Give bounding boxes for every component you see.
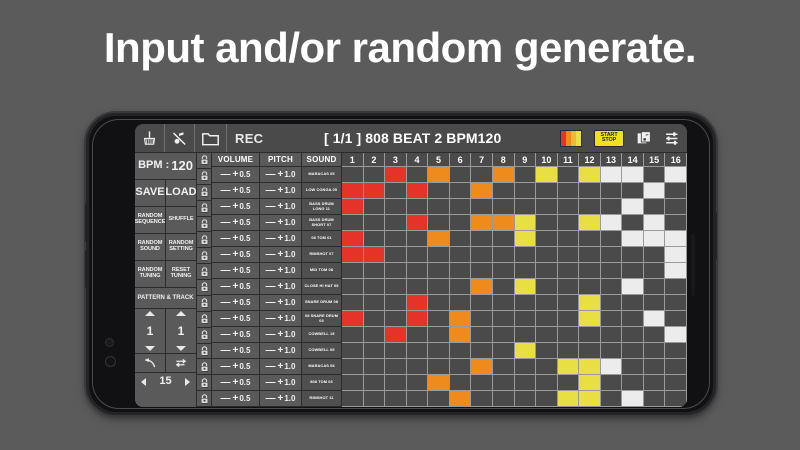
pitch-increase-icon[interactable]: + xyxy=(278,329,284,340)
pitch-decrease-icon[interactable]: — xyxy=(266,185,276,196)
volume-decrease-icon[interactable]: — xyxy=(221,297,231,308)
step-cell[interactable] xyxy=(601,215,623,231)
step-cell[interactable] xyxy=(579,343,601,359)
step-cell[interactable] xyxy=(364,231,386,247)
step-cell[interactable] xyxy=(644,343,666,359)
step-cell[interactable] xyxy=(644,263,666,279)
step-cell[interactable] xyxy=(364,343,386,359)
pitch-control[interactable]: —+1.0 xyxy=(260,343,302,359)
track-stepper[interactable]: 1 xyxy=(166,309,196,353)
step-cell[interactable] xyxy=(622,263,644,279)
step-cell[interactable] xyxy=(342,327,364,343)
pitch-control[interactable]: —+1.0 xyxy=(260,295,302,311)
step-cell[interactable] xyxy=(364,263,386,279)
pattern-track-label[interactable]: PATTERN & TRACK xyxy=(135,288,196,308)
step-cell[interactable] xyxy=(428,375,450,391)
step-cell[interactable] xyxy=(450,231,472,247)
step-cell[interactable] xyxy=(407,167,429,183)
step-cell[interactable] xyxy=(622,391,644,407)
step-cell[interactable] xyxy=(558,231,580,247)
step-cell[interactable] xyxy=(579,327,601,343)
step-cell[interactable] xyxy=(536,263,558,279)
step-cell[interactable] xyxy=(493,359,515,375)
step-cell[interactable] xyxy=(342,167,364,183)
pitch-decrease-icon[interactable]: — xyxy=(266,313,276,324)
step-cell[interactable] xyxy=(428,279,450,295)
step-cell[interactable] xyxy=(493,263,515,279)
lock-row-button[interactable] xyxy=(197,312,211,328)
volume-control[interactable]: —+0.5 xyxy=(212,231,260,247)
volume-decrease-icon[interactable]: — xyxy=(221,169,231,180)
lock-row-button[interactable] xyxy=(197,280,211,296)
step-cell[interactable] xyxy=(622,359,644,375)
step-cell[interactable] xyxy=(536,375,558,391)
pitch-increase-icon[interactable]: + xyxy=(278,297,284,308)
step-cell[interactable] xyxy=(536,183,558,199)
step-cell[interactable] xyxy=(385,183,407,199)
step-cell[interactable] xyxy=(364,279,386,295)
volume-increase-icon[interactable]: + xyxy=(233,297,239,308)
step-cell[interactable] xyxy=(342,263,364,279)
pitch-control[interactable]: —+1.0 xyxy=(260,375,302,391)
step-cell[interactable] xyxy=(407,311,429,327)
step-cell[interactable] xyxy=(493,311,515,327)
step-cell[interactable] xyxy=(364,183,386,199)
step-cell[interactable] xyxy=(558,359,580,375)
step-cell[interactable] xyxy=(471,295,493,311)
volume-control[interactable]: —+0.5 xyxy=(212,359,260,375)
step-cell[interactable] xyxy=(471,375,493,391)
volume-increase-icon[interactable]: + xyxy=(233,233,239,244)
step-cell[interactable] xyxy=(644,359,666,375)
step-cell[interactable] xyxy=(601,183,623,199)
lock-row-button[interactable] xyxy=(197,201,211,217)
copy-pattern-button[interactable] xyxy=(630,124,658,152)
step-cell[interactable] xyxy=(364,375,386,391)
step-cell[interactable] xyxy=(471,231,493,247)
step-cell[interactable] xyxy=(601,343,623,359)
pitch-increase-icon[interactable]: + xyxy=(278,233,284,244)
volume-decrease-icon[interactable]: — xyxy=(221,377,231,388)
pitch-decrease-icon[interactable]: — xyxy=(266,233,276,244)
step-cell[interactable] xyxy=(428,263,450,279)
step-cell[interactable] xyxy=(536,359,558,375)
lock-row-button[interactable] xyxy=(197,359,211,375)
step-cell[interactable] xyxy=(579,247,601,263)
step-cell[interactable] xyxy=(364,215,386,231)
step-cell[interactable] xyxy=(536,215,558,231)
step-cell[interactable] xyxy=(644,391,666,407)
pitch-control[interactable]: —+1.0 xyxy=(260,391,302,407)
step-cell[interactable] xyxy=(558,327,580,343)
volume-down-button[interactable] xyxy=(85,250,89,288)
step-cell[interactable] xyxy=(407,375,429,391)
volume-control[interactable]: —+0.5 xyxy=(212,375,260,391)
step-cell[interactable] xyxy=(665,231,687,247)
sound-name-cell[interactable]: RIMSHOT 11 xyxy=(302,391,342,407)
step-cell[interactable] xyxy=(364,295,386,311)
pitch-increase-icon[interactable]: + xyxy=(278,249,284,260)
pitch-control[interactable]: —+1.0 xyxy=(260,279,302,295)
step-cell[interactable] xyxy=(579,279,601,295)
steps-next-icon[interactable] xyxy=(185,378,190,386)
step-cell[interactable] xyxy=(342,231,364,247)
step-cell[interactable] xyxy=(644,167,666,183)
step-cell[interactable] xyxy=(579,167,601,183)
volume-control[interactable]: —+0.5 xyxy=(212,247,260,263)
step-cell[interactable] xyxy=(428,247,450,263)
volume-increase-icon[interactable]: + xyxy=(233,393,239,404)
step-cell[interactable] xyxy=(428,231,450,247)
volume-decrease-icon[interactable]: — xyxy=(221,393,231,404)
step-cell[interactable] xyxy=(622,231,644,247)
pitch-decrease-icon[interactable]: — xyxy=(266,249,276,260)
pitch-increase-icon[interactable]: + xyxy=(278,393,284,404)
sound-name-cell[interactable]: MARACAS 08 xyxy=(302,359,342,375)
step-cell[interactable] xyxy=(579,375,601,391)
step-cell[interactable] xyxy=(407,279,429,295)
color-swatch-button[interactable] xyxy=(554,124,588,152)
step-cell[interactable] xyxy=(407,231,429,247)
pitch-decrease-icon[interactable]: — xyxy=(266,201,276,212)
step-cell[interactable] xyxy=(536,167,558,183)
step-cell[interactable] xyxy=(428,391,450,407)
lock-row-button[interactable] xyxy=(197,328,211,344)
save-button[interactable]: SAVE xyxy=(135,180,166,206)
step-cell[interactable] xyxy=(385,359,407,375)
pitch-increase-icon[interactable]: + xyxy=(278,377,284,388)
step-cell[interactable] xyxy=(407,295,429,311)
step-cell[interactable] xyxy=(342,199,364,215)
step-cell[interactable] xyxy=(428,183,450,199)
volume-decrease-icon[interactable]: — xyxy=(221,233,231,244)
step-cell[interactable] xyxy=(665,311,687,327)
pitch-control[interactable]: —+1.0 xyxy=(260,263,302,279)
pattern-increment-icon[interactable] xyxy=(145,311,155,316)
step-cell[interactable] xyxy=(493,215,515,231)
volume-control[interactable]: —+0.5 xyxy=(212,215,260,231)
step-cell[interactable] xyxy=(558,183,580,199)
step-cell[interactable] xyxy=(428,167,450,183)
step-cell[interactable] xyxy=(601,167,623,183)
step-cell[interactable] xyxy=(493,343,515,359)
step-cell[interactable] xyxy=(579,359,601,375)
pitch-control[interactable]: —+1.0 xyxy=(260,231,302,247)
step-cell[interactable] xyxy=(644,231,666,247)
step-cell[interactable] xyxy=(622,295,644,311)
lock-all-button[interactable] xyxy=(197,153,211,169)
step-cell[interactable] xyxy=(579,295,601,311)
volume-control[interactable]: —+0.5 xyxy=(212,199,260,215)
step-cell[interactable] xyxy=(515,391,537,407)
step-cell[interactable] xyxy=(601,311,623,327)
pitch-decrease-icon[interactable]: — xyxy=(266,377,276,388)
sound-name-cell[interactable]: BASS DRUM SHORT 07 xyxy=(302,215,342,231)
step-cell[interactable] xyxy=(665,279,687,295)
step-cell[interactable] xyxy=(622,247,644,263)
step-cell[interactable] xyxy=(471,199,493,215)
pitch-control[interactable]: —+1.0 xyxy=(260,183,302,199)
step-cell[interactable] xyxy=(342,183,364,199)
pitch-increase-icon[interactable]: + xyxy=(278,217,284,228)
volume-increase-icon[interactable]: + xyxy=(233,201,239,212)
volume-control[interactable]: —+0.5 xyxy=(212,279,260,295)
step-cell[interactable] xyxy=(558,199,580,215)
pattern-stepper[interactable]: 1 xyxy=(135,309,166,353)
random-sound-button[interactable]: RANDOM SOUND xyxy=(135,234,166,260)
track-decrement-icon[interactable] xyxy=(176,346,186,351)
start-stop-button[interactable]: START STOP xyxy=(588,124,630,152)
volume-control[interactable]: —+0.5 xyxy=(212,391,260,407)
volume-decrease-icon[interactable]: — xyxy=(221,313,231,324)
step-cell[interactable] xyxy=(665,359,687,375)
volume-decrease-icon[interactable]: — xyxy=(221,345,231,356)
volume-increase-icon[interactable]: + xyxy=(233,361,239,372)
step-cell[interactable] xyxy=(471,311,493,327)
step-cell[interactable] xyxy=(622,183,644,199)
step-cell[interactable] xyxy=(665,183,687,199)
step-cell[interactable] xyxy=(450,183,472,199)
lock-row-button[interactable] xyxy=(197,296,211,312)
lock-row-button[interactable] xyxy=(197,232,211,248)
lock-row-button[interactable] xyxy=(197,185,211,201)
pitch-control[interactable]: —+1.0 xyxy=(260,199,302,215)
step-cell[interactable] xyxy=(493,295,515,311)
volume-up-button[interactable] xyxy=(85,204,89,242)
step-cell[interactable] xyxy=(515,359,537,375)
step-cell[interactable] xyxy=(450,199,472,215)
step-cell[interactable] xyxy=(558,279,580,295)
power-button[interactable] xyxy=(713,212,717,260)
lock-row-button[interactable] xyxy=(197,344,211,360)
step-cell[interactable] xyxy=(493,167,515,183)
step-cell[interactable] xyxy=(407,247,429,263)
sound-name-cell[interactable]: 808 TOM 03 xyxy=(302,375,342,391)
step-cell[interactable] xyxy=(601,295,623,311)
step-cell[interactable] xyxy=(407,391,429,407)
step-cell[interactable] xyxy=(515,183,537,199)
pitch-control[interactable]: —+1.0 xyxy=(260,247,302,263)
step-cell[interactable] xyxy=(665,247,687,263)
step-cell[interactable] xyxy=(493,327,515,343)
step-cell[interactable] xyxy=(579,311,601,327)
step-cell[interactable] xyxy=(601,375,623,391)
step-cell[interactable] xyxy=(407,359,429,375)
step-cell[interactable] xyxy=(601,327,623,343)
step-cell[interactable] xyxy=(428,295,450,311)
steps-prev-icon[interactable] xyxy=(141,378,146,386)
step-cell[interactable] xyxy=(601,247,623,263)
settings-button[interactable] xyxy=(658,124,687,152)
step-cell[interactable] xyxy=(644,311,666,327)
step-cell[interactable] xyxy=(622,327,644,343)
step-cell[interactable] xyxy=(601,279,623,295)
step-cell[interactable] xyxy=(364,327,386,343)
sound-name-cell[interactable]: MARACAS 05 xyxy=(302,167,342,183)
pitch-decrease-icon[interactable]: — xyxy=(266,329,276,340)
volume-increase-icon[interactable]: + xyxy=(233,345,239,356)
pitch-increase-icon[interactable]: + xyxy=(278,361,284,372)
step-cell[interactable] xyxy=(407,263,429,279)
step-cell[interactable] xyxy=(428,343,450,359)
step-cell[interactable] xyxy=(407,215,429,231)
step-cell[interactable] xyxy=(622,167,644,183)
step-cell[interactable] xyxy=(515,375,537,391)
volume-decrease-icon[interactable]: — xyxy=(221,249,231,260)
rec-button[interactable]: REC xyxy=(227,124,271,152)
volume-decrease-icon[interactable]: — xyxy=(221,361,231,372)
lock-row-button[interactable] xyxy=(197,248,211,264)
step-cell[interactable] xyxy=(493,199,515,215)
step-cell[interactable] xyxy=(471,263,493,279)
step-cell[interactable] xyxy=(644,375,666,391)
step-cell[interactable] xyxy=(536,311,558,327)
pitch-control[interactable]: —+1.0 xyxy=(260,311,302,327)
step-cell[interactable] xyxy=(385,311,407,327)
volume-control[interactable]: —+0.5 xyxy=(212,263,260,279)
step-cell[interactable] xyxy=(622,199,644,215)
step-cell[interactable] xyxy=(471,359,493,375)
volume-control[interactable]: —+0.5 xyxy=(212,343,260,359)
step-cell[interactable] xyxy=(471,391,493,407)
step-cell[interactable] xyxy=(407,199,429,215)
track-increment-icon[interactable] xyxy=(176,311,186,316)
step-cell[interactable] xyxy=(622,375,644,391)
step-cell[interactable] xyxy=(515,279,537,295)
step-cell[interactable] xyxy=(342,375,364,391)
step-cell[interactable] xyxy=(364,359,386,375)
step-cell[interactable] xyxy=(665,295,687,311)
step-cell[interactable] xyxy=(471,343,493,359)
step-cell[interactable] xyxy=(558,215,580,231)
step-cell[interactable] xyxy=(515,167,537,183)
step-cell[interactable] xyxy=(385,199,407,215)
step-cell[interactable] xyxy=(450,391,472,407)
step-cell[interactable] xyxy=(450,375,472,391)
lock-row-button[interactable] xyxy=(197,217,211,233)
step-cell[interactable] xyxy=(471,183,493,199)
step-cell[interactable] xyxy=(515,199,537,215)
step-cell[interactable] xyxy=(364,167,386,183)
random-sequence-button[interactable]: RANDOM SEQUENCE xyxy=(135,207,166,233)
step-cell[interactable] xyxy=(579,199,601,215)
step-cell[interactable] xyxy=(644,295,666,311)
step-cell[interactable] xyxy=(536,199,558,215)
step-cell[interactable] xyxy=(493,391,515,407)
pitch-decrease-icon[interactable]: — xyxy=(266,265,276,276)
pitch-increase-icon[interactable]: + xyxy=(278,169,284,180)
step-cell[interactable] xyxy=(644,279,666,295)
step-cell[interactable] xyxy=(471,167,493,183)
pattern-decrement-icon[interactable] xyxy=(145,346,155,351)
pitch-increase-icon[interactable]: + xyxy=(278,201,284,212)
volume-control[interactable]: —+0.5 xyxy=(212,295,260,311)
step-cell[interactable] xyxy=(558,167,580,183)
volume-increase-icon[interactable]: + xyxy=(233,265,239,276)
step-cell[interactable] xyxy=(601,359,623,375)
step-cell[interactable] xyxy=(665,327,687,343)
step-cell[interactable] xyxy=(385,263,407,279)
step-cell[interactable] xyxy=(515,215,537,231)
step-cell[interactable] xyxy=(385,295,407,311)
step-cell[interactable] xyxy=(665,375,687,391)
step-cell[interactable] xyxy=(536,247,558,263)
step-cell[interactable] xyxy=(342,343,364,359)
step-cell[interactable] xyxy=(536,391,558,407)
step-cell[interactable] xyxy=(450,327,472,343)
shuffle-button[interactable]: SHUFFLE xyxy=(166,207,196,233)
step-cell[interactable] xyxy=(471,279,493,295)
step-cell[interactable] xyxy=(515,231,537,247)
step-cell[interactable] xyxy=(536,231,558,247)
step-cell[interactable] xyxy=(428,311,450,327)
volume-increase-icon[interactable]: + xyxy=(233,169,239,180)
volume-increase-icon[interactable]: + xyxy=(233,313,239,324)
step-cell[interactable] xyxy=(665,215,687,231)
step-cell[interactable] xyxy=(622,343,644,359)
step-cell[interactable] xyxy=(342,391,364,407)
pitch-control[interactable]: —+1.0 xyxy=(260,167,302,183)
step-cell[interactable] xyxy=(493,231,515,247)
pitch-decrease-icon[interactable]: — xyxy=(266,169,276,180)
pitch-increase-icon[interactable]: + xyxy=(278,313,284,324)
step-cell[interactable] xyxy=(428,199,450,215)
volume-increase-icon[interactable]: + xyxy=(233,249,239,260)
step-cell[interactable] xyxy=(385,279,407,295)
pitch-decrease-icon[interactable]: — xyxy=(266,281,276,292)
steps-pager[interactable]: 15 xyxy=(135,373,196,391)
loop-button[interactable] xyxy=(166,354,196,372)
lock-row-button[interactable] xyxy=(197,264,211,280)
step-cell[interactable] xyxy=(665,391,687,407)
step-cell[interactable] xyxy=(385,327,407,343)
step-cell[interactable] xyxy=(536,295,558,311)
pitch-decrease-icon[interactable]: — xyxy=(266,345,276,356)
step-cell[interactable] xyxy=(450,295,472,311)
step-cell[interactable] xyxy=(342,247,364,263)
step-cell[interactable] xyxy=(385,215,407,231)
step-cell[interactable] xyxy=(385,247,407,263)
step-cell[interactable] xyxy=(515,295,537,311)
step-cell[interactable] xyxy=(579,183,601,199)
step-cell[interactable] xyxy=(342,295,364,311)
step-cell[interactable] xyxy=(385,167,407,183)
step-cell[interactable] xyxy=(515,311,537,327)
step-cell[interactable] xyxy=(471,247,493,263)
volume-control[interactable]: —+0.5 xyxy=(212,327,260,343)
step-cell[interactable] xyxy=(515,327,537,343)
step-cell[interactable] xyxy=(450,359,472,375)
step-cell[interactable] xyxy=(536,279,558,295)
step-cell[interactable] xyxy=(601,263,623,279)
step-cell[interactable] xyxy=(515,247,537,263)
sound-name-cell[interactable]: SNARE DRUM 08 xyxy=(302,295,342,311)
step-cell[interactable] xyxy=(407,343,429,359)
lock-row-button[interactable] xyxy=(197,391,211,407)
sound-name-cell[interactable]: LOW CONGA 05 xyxy=(302,183,342,199)
folder-button[interactable] xyxy=(195,124,227,152)
step-cell[interactable] xyxy=(644,199,666,215)
volume-decrease-icon[interactable]: — xyxy=(221,185,231,196)
step-cell[interactable] xyxy=(622,215,644,231)
step-cell[interactable] xyxy=(665,343,687,359)
undo-button[interactable] xyxy=(135,354,166,372)
lock-row-button[interactable] xyxy=(197,169,211,185)
sound-name-cell[interactable]: 08 TOM 01 xyxy=(302,231,342,247)
volume-decrease-icon[interactable]: — xyxy=(221,281,231,292)
step-cell[interactable] xyxy=(450,215,472,231)
step-cell[interactable] xyxy=(558,343,580,359)
